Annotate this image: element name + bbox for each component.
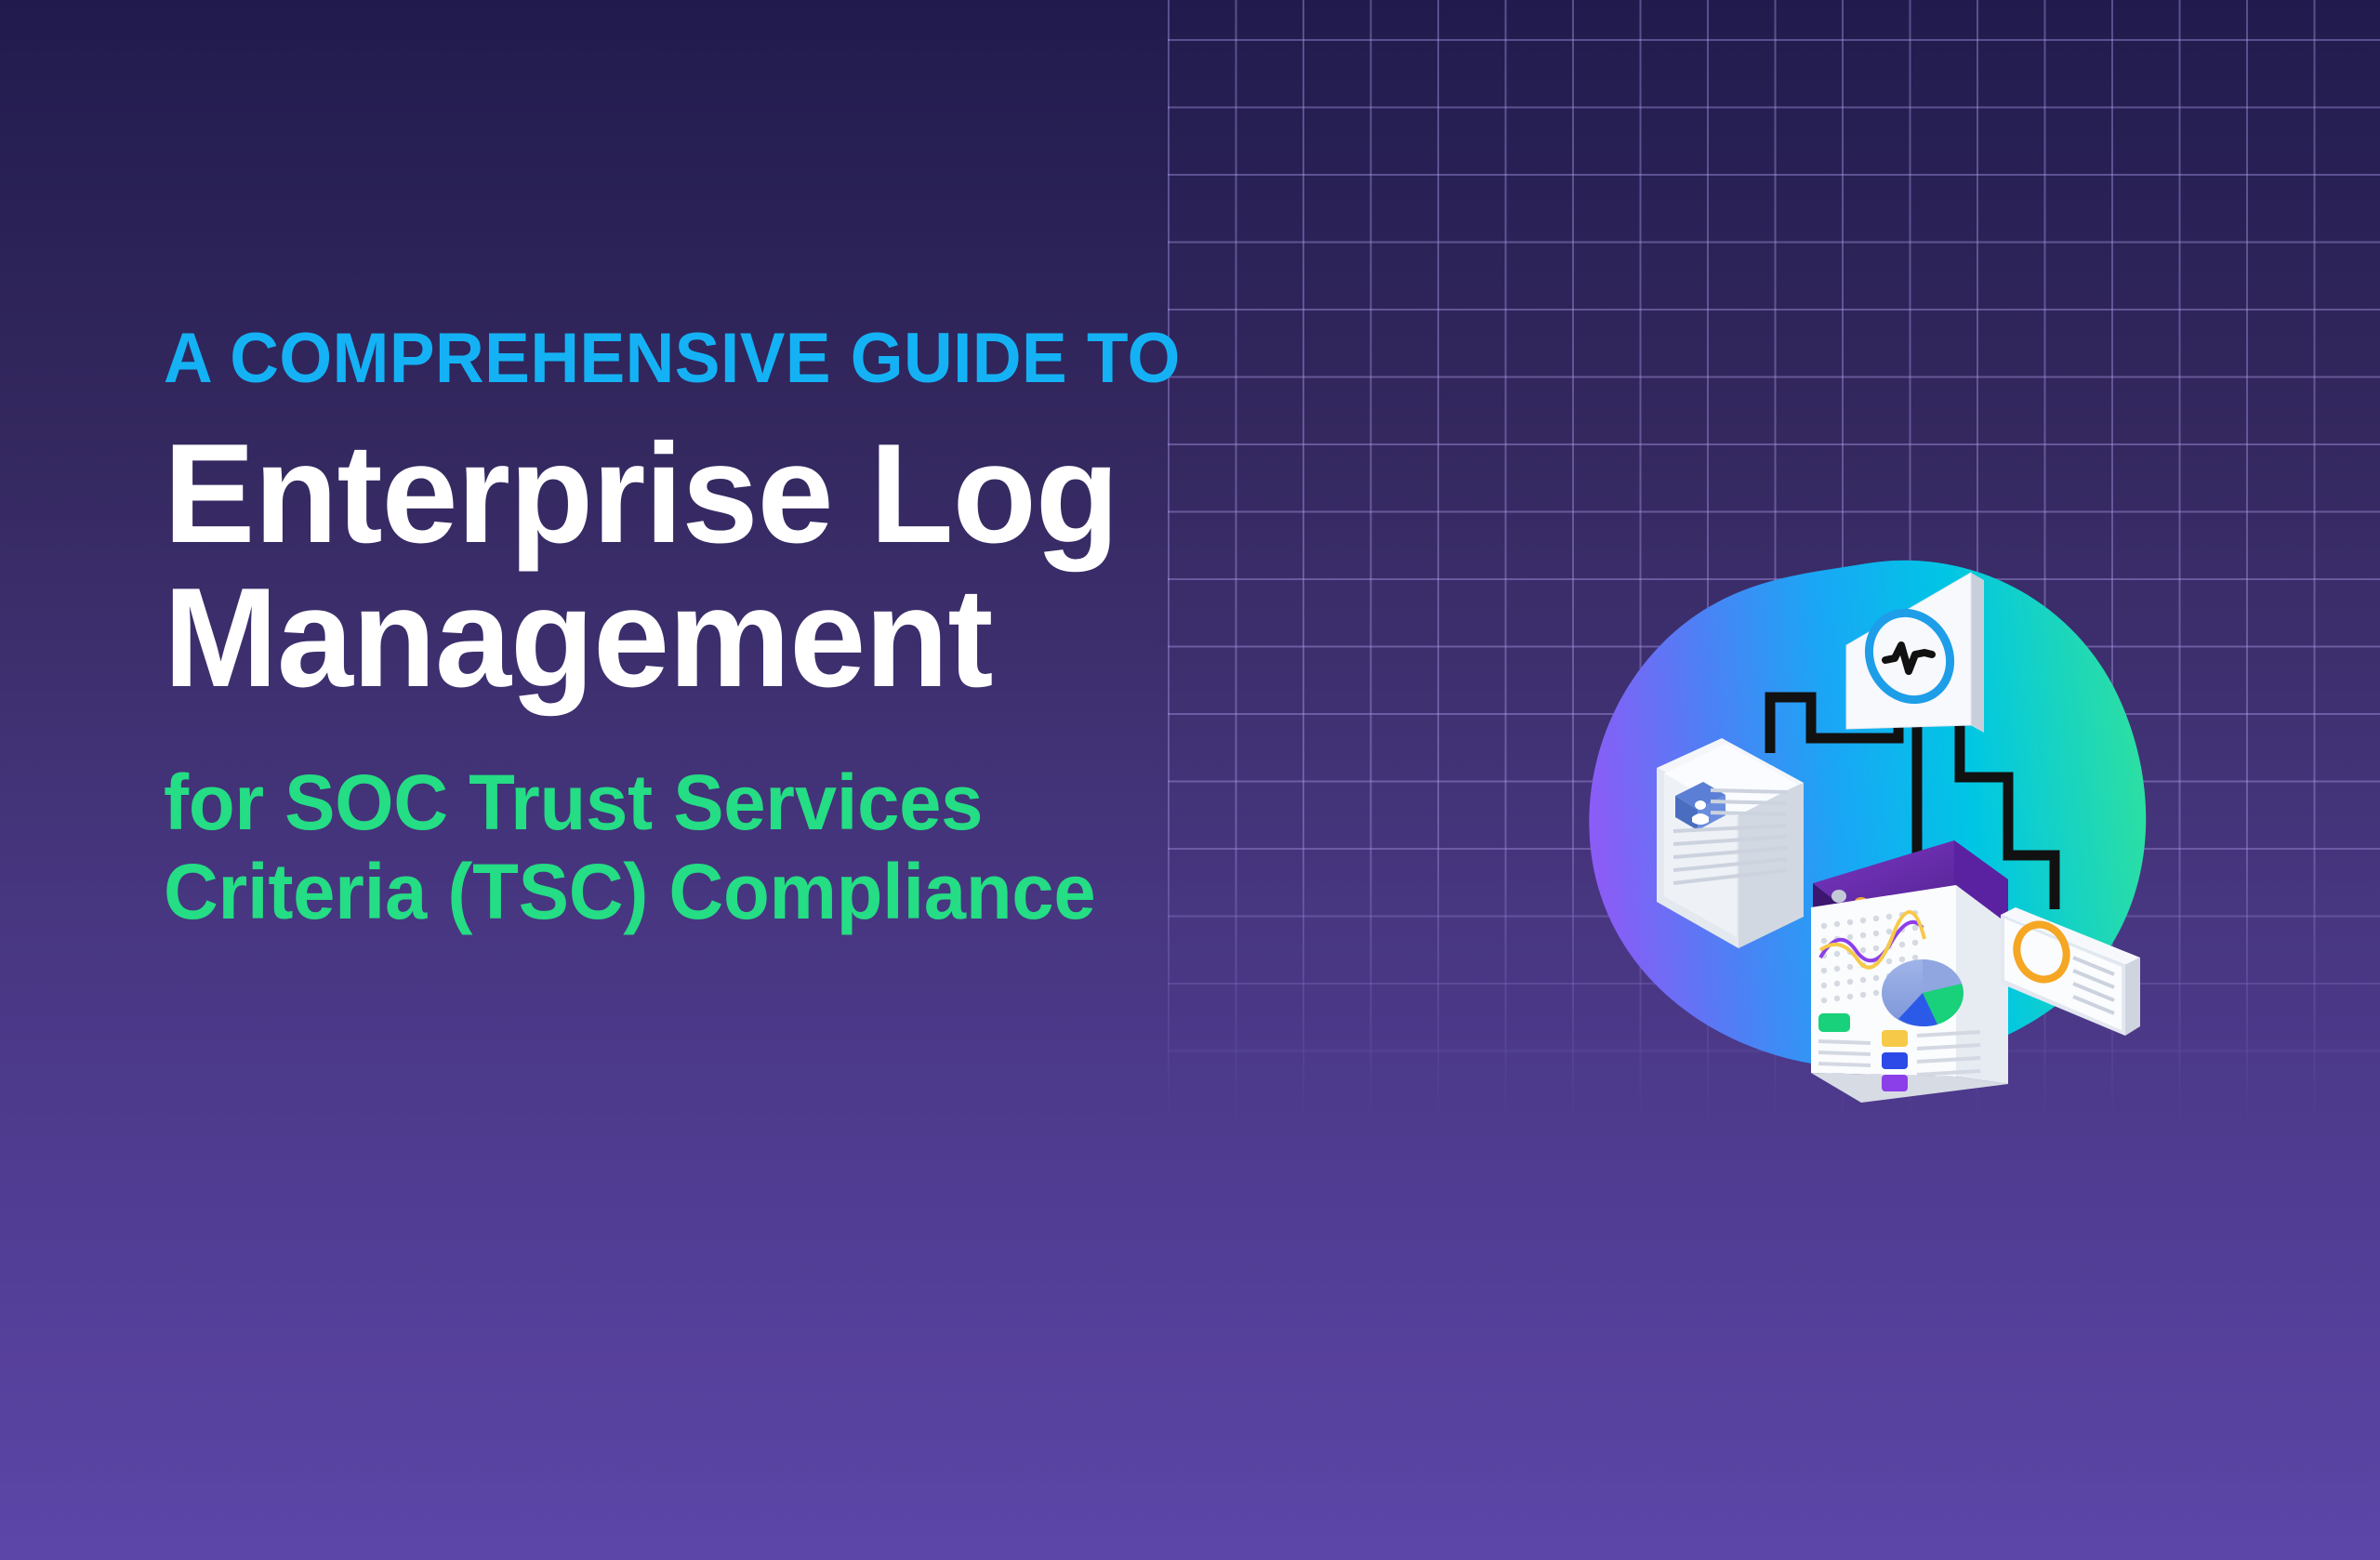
page-title-line-1: Enterprise Log: [164, 422, 1444, 566]
hero-illustration: [1571, 556, 2185, 1114]
pie-chart: [1882, 959, 1963, 1026]
legend-swatch-violet: [1882, 1075, 1908, 1091]
page-subtitle: for SOC Trust Services Criteria (TSC) Co…: [164, 759, 1444, 937]
legend-swatch-yellow: [1882, 1030, 1908, 1047]
page-subtitle-line-2: Criteria (TSC) Compliance: [164, 848, 1444, 937]
legend-swatch-blue: [1882, 1052, 1908, 1069]
hero-eyebrow: A COMPREHENSIVE GUIDE TO: [164, 324, 1431, 394]
kpi-chip-green: [1818, 1013, 1850, 1032]
hero-text-block: A COMPREHENSIVE GUIDE TO Enterprise Log …: [164, 324, 1484, 937]
page-subtitle-line-1: for SOC Trust Services: [164, 759, 1444, 848]
page-title: Enterprise Log Management: [164, 422, 1444, 710]
page-title-line-2: Management: [164, 566, 1444, 710]
analytics-dashboard-window: [1811, 840, 2008, 1103]
